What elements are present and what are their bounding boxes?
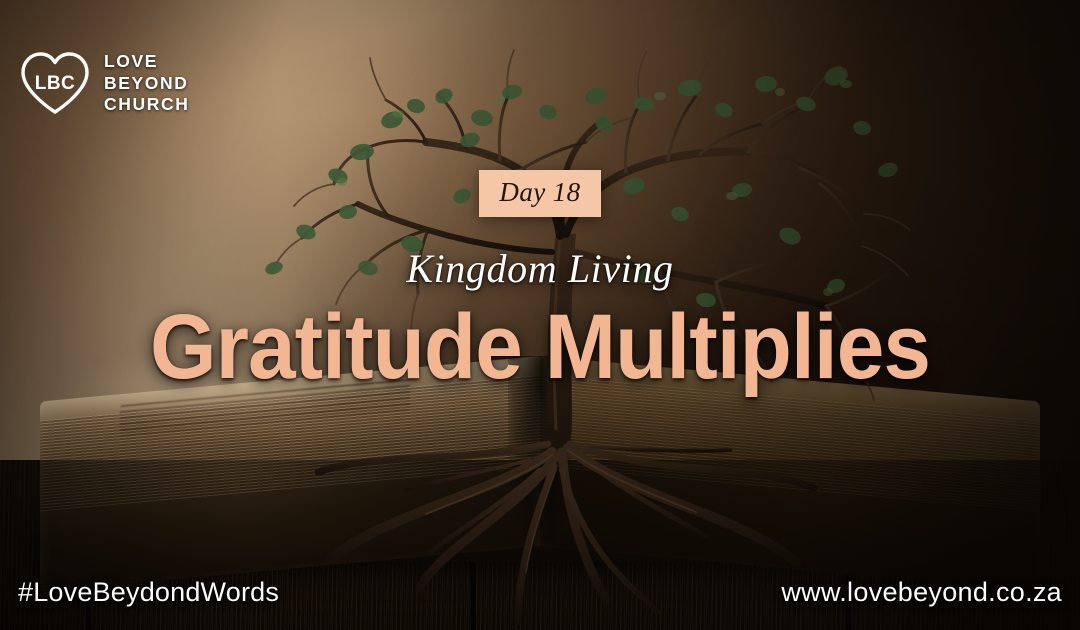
day-badge: Day 18 xyxy=(479,170,600,217)
social-graphic-canvas: LBC LOVE BEYOND CHURCH Day 18 Kingdom Li… xyxy=(0,0,1080,630)
headline-title: Gratitude Multiplies xyxy=(38,303,1042,391)
main-content: Day 18 Kingdom Living Gratitude Multipli… xyxy=(0,0,1080,391)
footer-bar: #LoveBeydondWords www.lovebeyond.co.za xyxy=(0,558,1080,630)
series-title: Kingdom Living xyxy=(0,249,1080,289)
website-url[interactable]: www.lovebeyond.co.za xyxy=(781,579,1062,606)
hashtag-text: #LoveBeydondWords xyxy=(18,579,279,606)
